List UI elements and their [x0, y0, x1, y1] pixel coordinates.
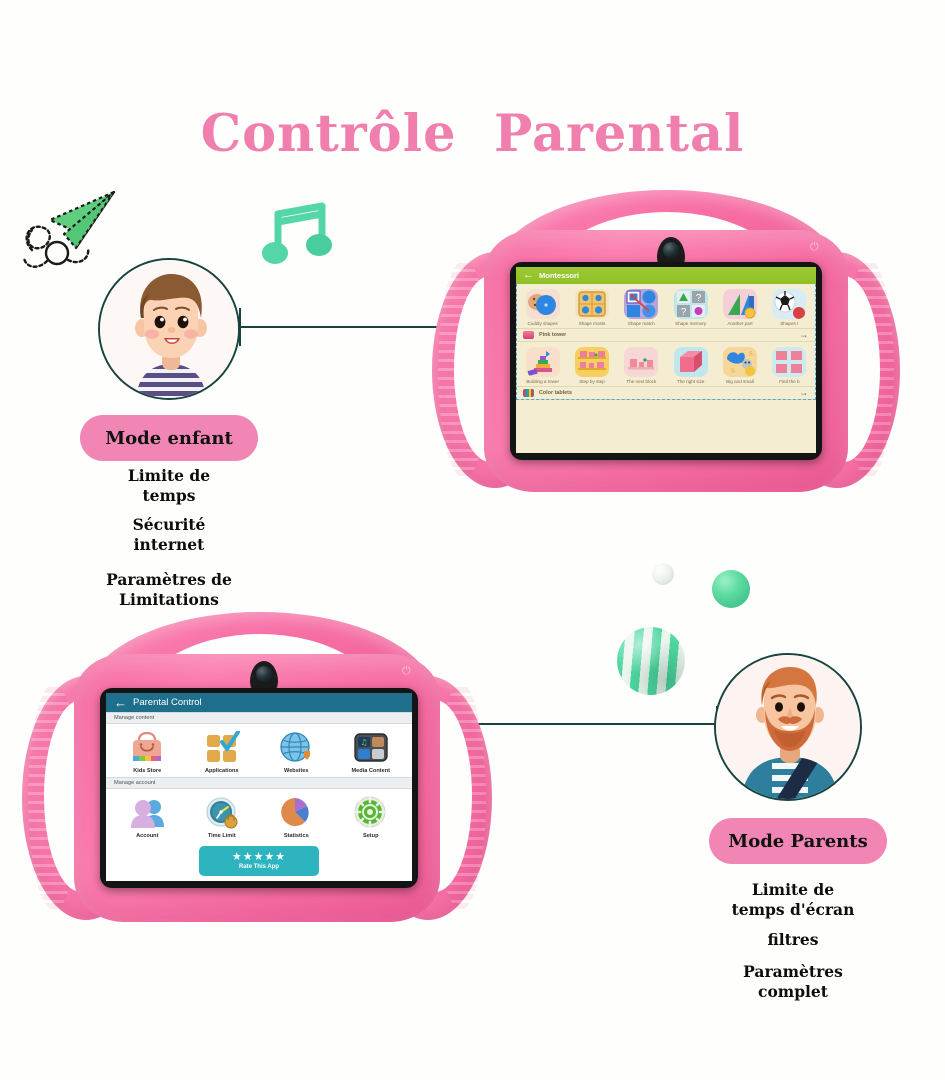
back-arrow-icon[interactable]: ← [523, 270, 534, 281]
websites-label: Websites [265, 768, 327, 774]
pink-tower-chip [523, 331, 534, 339]
account-label: Account [116, 833, 178, 839]
shape-mosts-icon [575, 289, 609, 319]
cuddly-shapes-icon [526, 289, 560, 319]
power-icon[interactable]: ⏻ [402, 666, 411, 677]
parent-feature-1: Limite de temps d'écran [673, 880, 913, 920]
montessori-tile[interactable]: The right size [669, 347, 713, 384]
manage-content-section-header: Manage content [106, 712, 412, 724]
kids-tablet-pink-case: ⏻ ← Montessori [432, 190, 900, 508]
shape-memory-icon: ? ? [674, 289, 708, 319]
setup-tile[interactable]: Setup [340, 796, 402, 839]
shopping-bag-icon [129, 731, 165, 765]
montessori-tile[interactable]: S S Big and small [718, 347, 762, 384]
globe-icon [278, 731, 314, 765]
montessori-title: Montessori [539, 271, 579, 280]
ball-small-white [652, 563, 674, 585]
ball-medium-green [712, 570, 750, 608]
rating-stars: ★★★★★ [232, 852, 286, 863]
montessori-row-2: Building a tower [516, 342, 816, 386]
users-icon [129, 796, 165, 830]
montessori-tile-label: Shape match [619, 321, 663, 326]
find-the-b-icon [772, 347, 806, 377]
svg-text:♫: ♫ [360, 738, 367, 747]
camera-lens [256, 666, 272, 682]
montessori-tile[interactable]: Find the b [767, 347, 811, 384]
clock-lock-icon [204, 796, 240, 830]
manage-account-row: Account [106, 789, 412, 842]
media-content-label: Media Content [340, 768, 402, 774]
gear-icon [353, 796, 389, 830]
parent-mode-badge[interactable]: Mode Parents [709, 818, 887, 864]
montessori-tile-label: Shapes I [767, 321, 811, 326]
montessori-tile[interactable]: Another part [718, 289, 762, 326]
another-part-icon [723, 289, 757, 319]
child-avatar [98, 258, 240, 400]
parent-feature-3: Paramètres complet [673, 962, 913, 1002]
kid-feature-2: Sécurité internet [49, 515, 289, 555]
montessori-tile-label: Another part [718, 321, 762, 326]
kids-store-label: Kids Store [116, 768, 178, 774]
montessori-tile[interactable]: ? ? Shape memory [669, 289, 713, 326]
parental-control-app: ← Parental Control Manage content [106, 693, 412, 881]
rate-this-app-label: Rate This App [239, 864, 279, 870]
montessori-tile[interactable]: Cuddly shapes [521, 289, 565, 326]
camera-lens [663, 242, 679, 258]
kid-mode-badge-label: Mode enfant [105, 428, 233, 449]
kid-mode-badge[interactable]: Mode enfant [80, 415, 258, 461]
big-and-small-icon: S S [723, 347, 757, 377]
montessori-tile[interactable]: Step by step [570, 347, 614, 384]
parent-feature-2: filtres [673, 930, 913, 950]
kid-feature-1: Limite de temps [49, 466, 289, 506]
montessori-tile-label: Cuddly shapes [521, 321, 565, 326]
setup-label: Setup [340, 833, 402, 839]
music-note-icon [262, 200, 342, 270]
manage-account-section-header: Manage account [106, 777, 412, 789]
rate-this-app-button[interactable]: ★★★★★ Rate This App [199, 846, 319, 876]
montessori-tile[interactable]: Shapes I [767, 289, 811, 326]
pie-chart-icon [278, 796, 314, 830]
montessori-section-pink-tower[interactable]: Pink tower → [516, 328, 816, 342]
montessori-tile-label: Find the b [767, 379, 811, 384]
applications-tile[interactable]: Applications [191, 731, 253, 774]
parental-control-appbar: ← Parental Control [106, 693, 412, 712]
montessori-appbar: ← Montessori [516, 267, 816, 284]
poster-canvas: Contrôle Parental [0, 0, 945, 1080]
apps-check-icon [204, 731, 240, 765]
parent-tablet-pink-case: ⏻ ← Parental Control Manage content [22, 612, 492, 942]
paper-plane-icon [14, 178, 134, 288]
media-folder-icon: ♫ [353, 731, 389, 765]
kid-screen[interactable]: ← Montessori [516, 267, 816, 453]
shapes-i-icon [772, 289, 806, 319]
montessori-tile[interactable]: Shape match [619, 289, 663, 326]
parental-control-title: Parental Control [133, 697, 202, 708]
shape-match-icon [624, 289, 658, 319]
montessori-app: ← Montessori [516, 267, 816, 453]
ball-large-striped [617, 627, 685, 695]
pink-tower-arrow-icon[interactable]: → [799, 331, 808, 340]
the-next-block-icon [624, 347, 658, 377]
montessori-tile-label: Shape memory [669, 321, 713, 326]
statistics-label: Statistics [265, 833, 327, 839]
statistics-tile[interactable]: Statistics [265, 796, 327, 839]
svg-text:S: S [731, 367, 735, 375]
kid-feature-3: Paramètres de Limitations [49, 570, 289, 610]
montessori-tile[interactable]: The next block [619, 347, 663, 384]
websites-tile[interactable]: Websites [265, 731, 327, 774]
pink-tower-title: Pink tower [539, 332, 566, 338]
manage-content-row: Kids Store [106, 724, 412, 777]
applications-label: Applications [191, 768, 253, 774]
parent-screen-bezel: ← Parental Control Manage content [100, 688, 418, 888]
montessori-tile-label: Big and small [718, 379, 762, 384]
media-content-tile[interactable]: ♫ Media Content [340, 731, 402, 774]
parent-connector-line [455, 723, 717, 725]
parent-screen[interactable]: ← Parental Control Manage content [106, 693, 412, 881]
building-a-tower-icon [526, 347, 560, 377]
svg-text:?: ? [680, 307, 686, 318]
montessori-tile-label: Step by step [570, 379, 614, 384]
back-arrow-icon[interactable]: ← [114, 696, 127, 709]
montessori-tile-label: Building a tower [521, 379, 565, 384]
power-icon[interactable]: ⏻ [810, 242, 819, 253]
montessori-row-1: Cuddly shapes [516, 284, 816, 328]
kid-screen-bezel: ← Montessori [510, 262, 822, 460]
step-by-step-icon [575, 347, 609, 377]
the-right-size-icon [674, 347, 708, 377]
svg-text:S: S [749, 350, 753, 358]
color-tablets-title: Color tablets [539, 390, 572, 396]
montessori-tile[interactable]: Building a tower [521, 347, 565, 384]
svg-text:?: ? [695, 293, 701, 304]
account-tile[interactable]: Account [116, 796, 178, 839]
parent-mode-badge-label: Mode Parents [728, 831, 867, 852]
montessori-tile[interactable]: Shape mosts [570, 289, 614, 326]
montessori-tile-label: The next block [619, 379, 663, 384]
kids-store-tile[interactable]: Kids Store [116, 731, 178, 774]
montessori-section-color-tablets[interactable]: Color tablets → [516, 386, 816, 400]
montessori-tile-label: Shape mosts [570, 321, 614, 326]
parent-avatar [714, 653, 862, 801]
montessori-tile-label: The right size [669, 379, 713, 384]
time-limit-label: Time Limit [191, 833, 253, 839]
color-tablets-chip [523, 389, 534, 397]
page-title: Contrôle Parental [0, 104, 945, 164]
time-limit-tile[interactable]: Time Limit [191, 796, 253, 839]
color-tablets-arrow-icon[interactable]: → [799, 389, 808, 398]
